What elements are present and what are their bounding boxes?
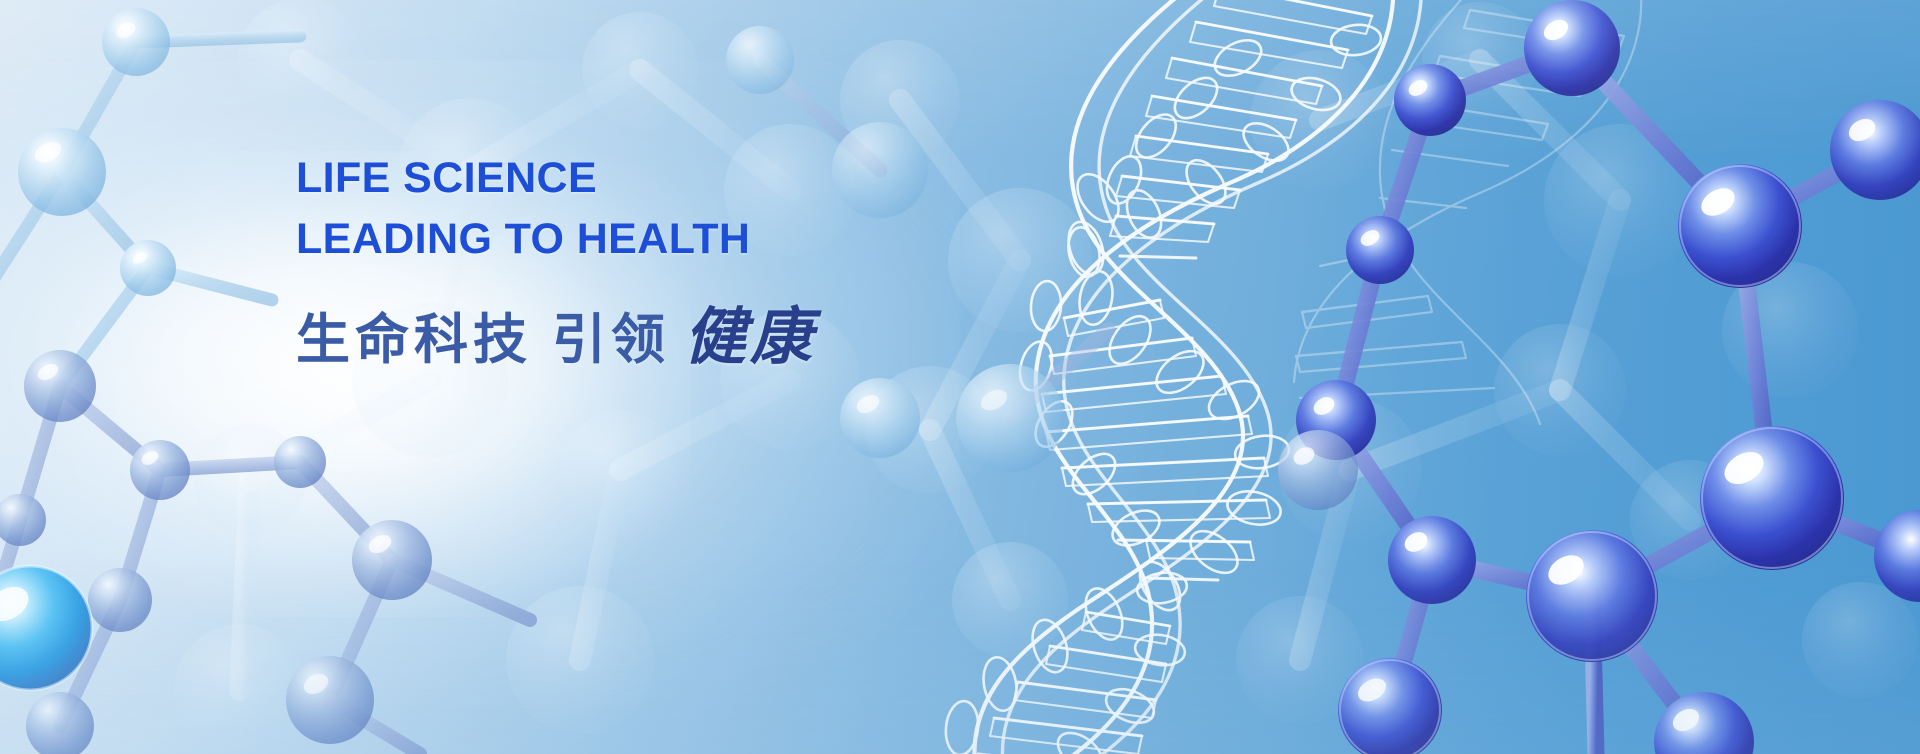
headline-line-1: LIFE SCIENCE [296,154,597,202]
subtitle: 生命科技 引领 健康 [296,286,1056,376]
background-vertical-sheen [0,0,1920,754]
banner-copy: LIFE SCIENCE LEADING TO HEALTH 生命科技 引领 健… [296,148,1056,376]
subtitle-part-1: 生命科技 [296,295,532,374]
subtitle-part-3: 健康 [684,286,816,376]
life-science-banner: LIFE SCIENCE LEADING TO HEALTH 生命科技 引领 健… [0,0,1920,754]
headline-line-2: LEADING TO HEALTH [296,209,1056,270]
headline: LIFE SCIENCE LEADING TO HEALTH [296,148,1056,270]
subtitle-part-2: 引领 [552,295,670,374]
